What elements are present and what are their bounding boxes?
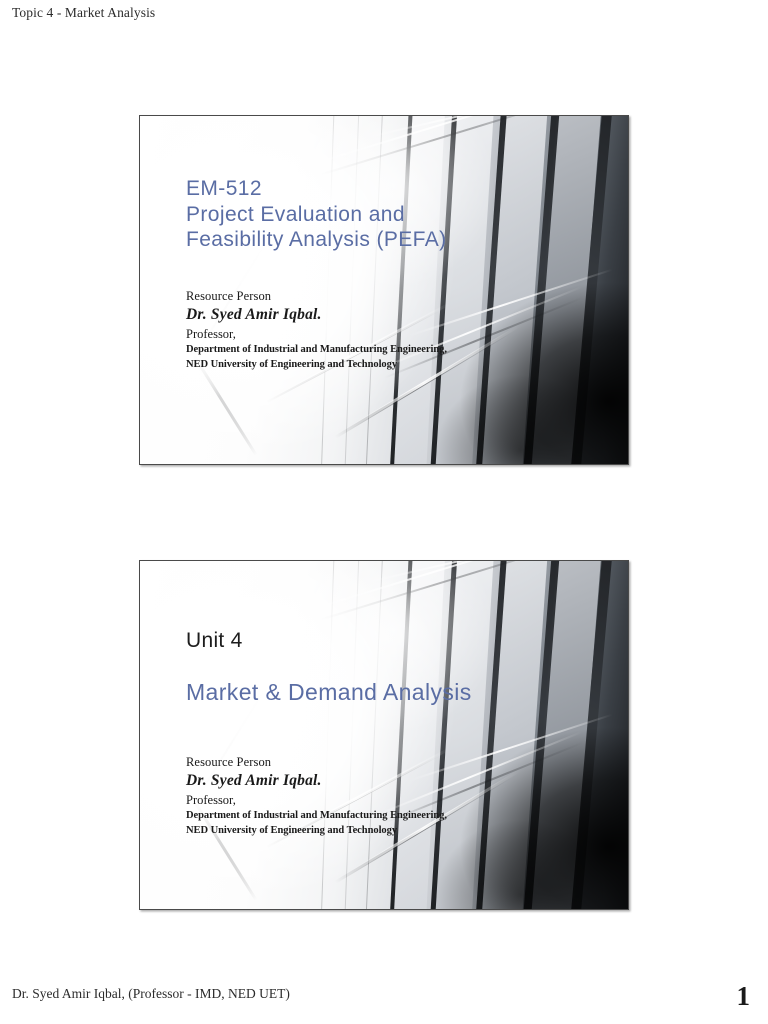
slide-unit-slide[interactable]: Unit 4 Market & Demand Analysis Resource…: [139, 560, 629, 910]
document-header: Topic 4 - Market Analysis: [12, 5, 155, 21]
resource-person-block: Resource Person Dr. Syed Amir Iqbal. Pro…: [186, 754, 447, 838]
resource-person-block: Resource Person Dr. Syed Amir Iqbal. Pro…: [186, 288, 447, 372]
resource-person-name: Dr. Syed Amir Iqbal.: [186, 770, 447, 791]
resource-person-department: Department of Industrial and Manufacturi…: [186, 809, 447, 824]
unit-label: Unit 4: [186, 629, 243, 653]
resource-person-university: NED University of Engineering and Techno…: [186, 358, 447, 373]
slide-title-slide[interactable]: EM-512 Project Evaluation and Feasibilit…: [139, 115, 629, 465]
slide-content: EM-512 Project Evaluation and Feasibilit…: [140, 116, 628, 464]
resource-person-rank: Professor,: [186, 325, 447, 343]
resource-person-rank: Professor,: [186, 791, 447, 809]
resource-person-name: Dr. Syed Amir Iqbal.: [186, 304, 447, 325]
resource-person-label: Resource Person: [186, 288, 447, 304]
page-number: 1: [737, 981, 751, 1012]
document-footer: Dr. Syed Amir Iqbal, (Professor - IMD, N…: [12, 986, 290, 1002]
unit-title: Market & Demand Analysis: [186, 679, 472, 706]
resource-person-label: Resource Person: [186, 754, 447, 770]
document-page: Topic 4 - Market Analysis: [0, 0, 768, 1024]
slide-title: EM-512 Project Evaluation and Feasibilit…: [186, 176, 447, 253]
slide-content: Unit 4 Market & Demand Analysis Resource…: [140, 561, 628, 909]
resource-person-university: NED University of Engineering and Techno…: [186, 824, 447, 839]
resource-person-department: Department of Industrial and Manufacturi…: [186, 343, 447, 358]
